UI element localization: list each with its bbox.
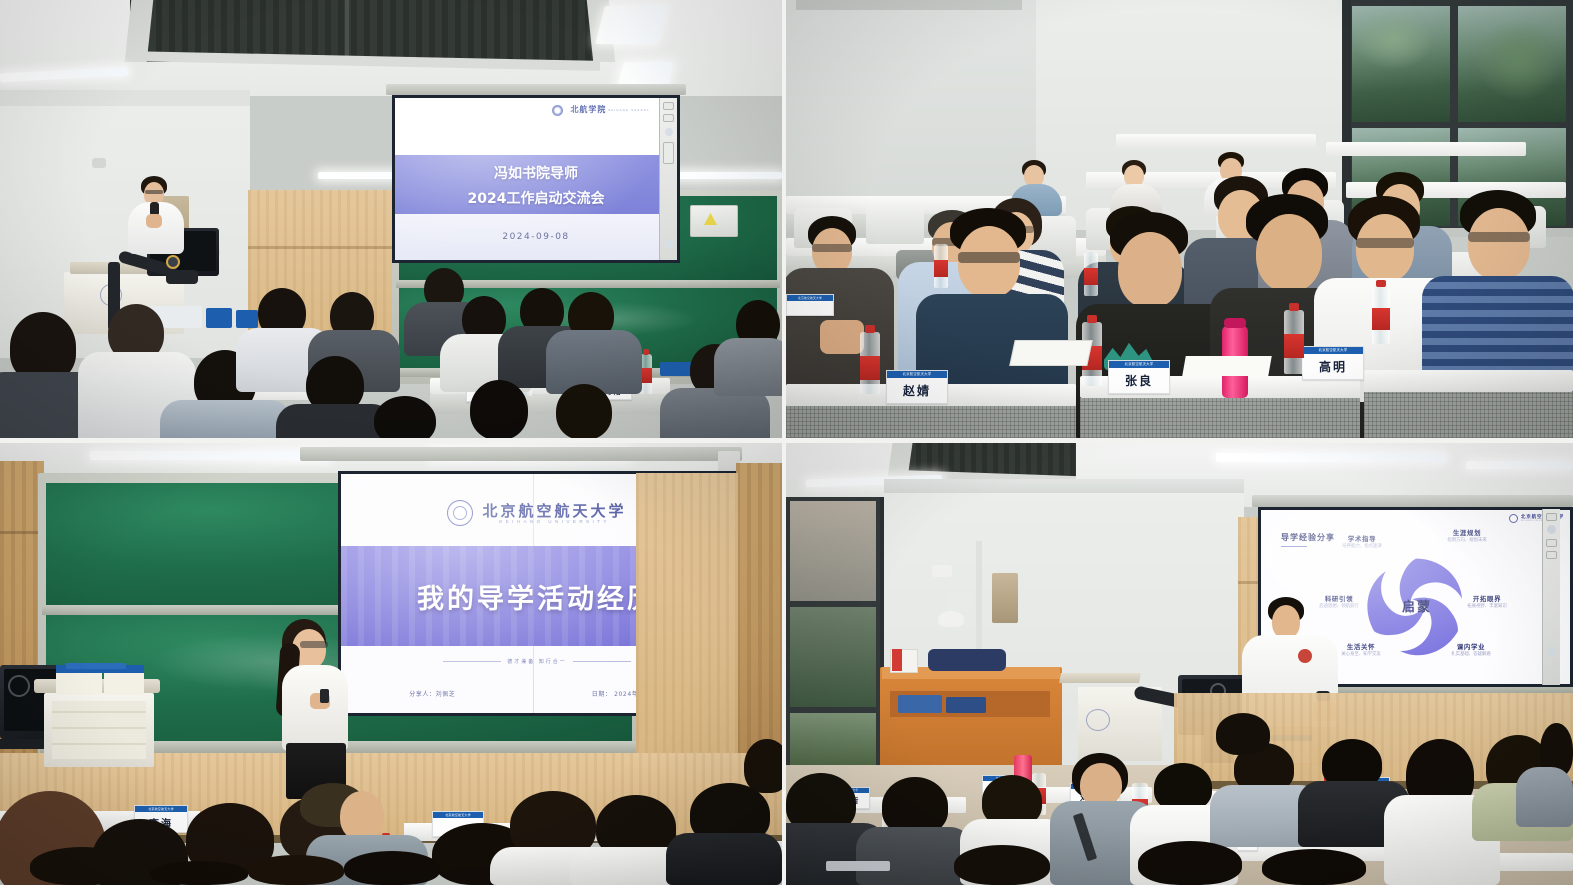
screen-indicator-icon [1547,525,1556,534]
window-foliage [1354,10,1434,70]
podium-shelf [1059,673,1141,683]
photo-top-right: 北京航空航天大学 赵婧 北京航空航天大学 张良 北京航空航天大学 高明 北京航空… [786,0,1573,438]
audience-head [556,384,612,438]
front-attendee-head [1468,208,1530,280]
front-attendee-glasses-icon [958,252,1020,263]
bottle-label [1284,334,1304,358]
bottle-label [934,260,948,277]
ceiling-sensor [932,565,952,577]
slide-logos: 北航学院 BEIHANG SCHOOL [552,103,671,117]
namecard: 北京航空航天大学 赵婧 [886,370,948,404]
diagram-node: 生涯规划 指明方向、规划未来 [1427,528,1507,543]
node-desc: 拓展视野、丰富知识 [1447,603,1527,609]
red-marker [892,649,902,671]
wood-wall-panel [636,473,738,763]
diagram-node: 开拓眼界 拓展视野、丰富知识 [1447,594,1527,609]
screen-button[interactable] [1546,551,1557,559]
audience-hair [248,855,344,885]
water-bottle [1372,286,1390,344]
bottle-cap [865,325,875,333]
front-desk-mesh [786,406,1076,438]
screen-button[interactable] [1546,539,1557,547]
speaker-hand [146,214,162,228]
audience-body [714,338,782,396]
blue-box [898,695,942,713]
monitor-logo-icon [8,675,30,697]
wall-top-trim [796,0,1022,10]
water-bottle [1084,252,1098,296]
ceiling-light [1216,453,1446,462]
node-desc: 指明方向、规划未来 [1427,537,1507,543]
screen-seam [533,474,534,713]
front-desk-mesh [1080,398,1360,438]
shirt-emblem-icon [1298,649,1312,663]
storage-cabinet [880,667,1062,779]
slide-motto: 德才兼备 知行合一 [507,658,567,665]
slide-title-band: 冯如书院导师 2024工作启动交流会 [395,155,677,219]
screen-control-strip [659,98,677,260]
screen-indicator-icon [1547,647,1556,656]
slide-date-strip: 2024-09-08 [395,214,677,260]
audience-hair [344,851,440,885]
ceiling-fixture [92,158,106,168]
front-attendee-head [1256,214,1322,292]
front-attendee-head [1356,214,1414,282]
bottle-cap [643,349,649,355]
audience-hair [1262,849,1366,885]
projector-screen-case [300,447,742,461]
phone-on-desk [826,861,890,871]
attendee-hands [820,320,864,354]
monitor-arm-knob [166,255,180,269]
audience-head [340,791,384,841]
buaa-seal-icon [1509,514,1518,523]
window-pane [790,501,876,601]
node-desc: 培养能力、指点迷津 [1327,543,1397,549]
projector-screen-case [1252,495,1573,507]
namecard-name: 高明 [1319,354,1347,379]
slide-title-line2: 2024工作启动交流会 [468,187,605,212]
ceiling-rail [345,0,349,62]
slide-presenter: 分享人：刘佩芝 [409,689,455,698]
namecard: 北京航空航天大学 张良 [1108,360,1170,394]
slide-title-line1: 冯如书院导师 [494,162,578,187]
slide-center-label: 启蒙 [1381,596,1453,615]
node-label: 开拓眼界 [1447,594,1527,603]
blue-box [946,697,986,713]
water-bottle [1284,310,1304,374]
audience-hair [954,845,1050,885]
screen-button[interactable] [663,142,674,164]
wall-trim [884,479,1244,493]
audience-hair [1216,713,1270,755]
front-table-shelf [52,701,146,759]
speaker-glasses-icon [145,190,163,194]
audience-body [1516,767,1573,827]
front-attendee-head [1118,232,1182,308]
screen-button[interactable] [1546,513,1557,521]
wood-side-wall [736,463,782,763]
paper-box [104,671,144,695]
photo-bottom-right: 北京航空航天大学 BEIHANG UNIVERSITY 导学经验分享 [786,443,1573,885]
blue-folder [206,308,232,328]
namecard-name: 张良 [1125,368,1153,393]
panel-seam [248,246,396,249]
folded-jacket [928,649,1006,671]
diagram-node: 科研引领 启迪思想、领航前行 [1301,594,1377,609]
audience-hair [1138,841,1242,885]
audience-head [470,380,528,438]
projector-screen-case [386,84,686,95]
slide-logo-en: BEIHANG SCHOOL [608,109,650,112]
node-desc: 扎实基础、答疑解惑 [1431,651,1511,657]
namecard-band: 北京航空航天大学 [433,812,483,818]
front-desk [1364,370,1573,392]
namecard-name: 赵婧 [903,378,931,403]
bottle-label [1372,308,1390,330]
buaa-seal-icon [447,500,473,526]
slide-main-title: 我的导学活动经历 [417,577,657,616]
bottle-label [1084,268,1098,285]
node-label: 课内学业 [1431,642,1511,651]
slide-header-rule [1281,546,1307,547]
bottle-cap [1087,315,1097,323]
blue-folder [236,310,258,328]
ceiling-light [90,451,330,460]
presenter-clicker [320,689,329,703]
bottle-cap [1376,280,1386,287]
namecard-band: 北京航空航天大学 [887,371,947,378]
screen-control-strip [1542,509,1560,685]
window-pane [790,607,876,707]
bottle-label [860,356,880,380]
namecard-band: 北京航空航天大学 [1109,361,1169,368]
water-bottle [934,244,948,288]
dome-camera-icon [938,611,964,627]
presenter-head [1272,605,1300,639]
audience-hair [1154,763,1212,811]
audience-hair [150,861,248,885]
motto-rule-left [443,661,501,662]
chair [866,204,924,244]
screen-button[interactable] [663,114,674,122]
audience-body [160,400,292,438]
namecard-band: 北京航空航天大学 [1303,347,1363,354]
rear-desk [1326,142,1526,156]
photo-top-left: 北航学院 BEIHANG SCHOOL 冯如书院导师 2024工作启动交流会 2… [0,0,782,438]
namecard: 北京航空航天大学 高明 [1302,346,1364,380]
node-label: 科研引领 [1301,594,1377,603]
screen-indicator-icon [665,240,673,248]
camera-mount [946,593,972,611]
wall-speaker [992,573,1018,623]
front-attendee-glasses-icon [1468,232,1530,242]
paper-sheet [1182,356,1272,376]
photo-collage: 北航学院 BEIHANG SCHOOL 冯如书院导师 2024工作启动交流会 2… [0,0,1573,885]
node-label: 学术指导 [1327,534,1397,543]
namecard: 北京航空航天大学 [786,294,834,316]
paper-box [56,671,102,695]
wall-trim [0,90,250,106]
beihang-seal-icon [552,105,563,116]
window-wall [786,497,884,777]
window-foliage [1476,20,1562,100]
bottle-cap [1289,303,1299,311]
slide-uni-en: BEIHANG UNIVERSITY [482,519,626,524]
diagram-node: 学术指导 培养能力、指点迷津 [1327,534,1397,549]
podium-emblem-icon [1086,709,1110,731]
rear-desk [1116,134,1316,148]
pink-bottle-cap [1224,318,1246,328]
ceiling-light [1466,461,1573,469]
diagram-node: 课内学业 扎实基础、答疑解惑 [1431,642,1511,657]
ceiling-light [595,6,666,44]
attendee-glasses-icon [812,244,852,252]
slide-logo-cn: 北航学院 [570,106,606,114]
screen-indicator-icon [665,128,673,136]
screen-button[interactable] [663,102,674,110]
presenter-glasses-icon [300,641,328,648]
audience-body [546,330,642,394]
audience-body [856,827,972,885]
photo-bottom-left: 北京航空航天大学 BEIHANG UNIVERSITY 我的导学活动经历 德才兼… [0,443,782,885]
node-label: 生涯规划 [1427,528,1507,537]
audience-hair [744,739,782,793]
water-bottle [860,332,880,394]
audience-head [374,396,436,438]
slide-title: 北航学院 BEIHANG SCHOOL 冯如书院导师 2024工作启动交流会 2… [395,98,677,260]
window-pane [790,713,876,773]
namecard-band: 北京航空航天大学 [787,295,833,301]
front-attendee-glasses-icon [1356,238,1414,248]
front-desk-mesh [1364,392,1573,438]
node-desc: 启迪思想、领航前行 [1301,603,1377,609]
projector-screen: 北航学院 BEIHANG SCHOOL 冯如书院导师 2024工作启动交流会 2… [392,95,680,263]
blue-label [66,663,126,669]
audience-body [666,833,782,885]
motto-rule-right [573,661,631,662]
notebook [1009,340,1093,366]
audience-hair [30,847,134,885]
slide-date: 2024-09-08 [502,232,569,242]
slide-uni-cn: 北京航空航天大学 [482,503,626,519]
